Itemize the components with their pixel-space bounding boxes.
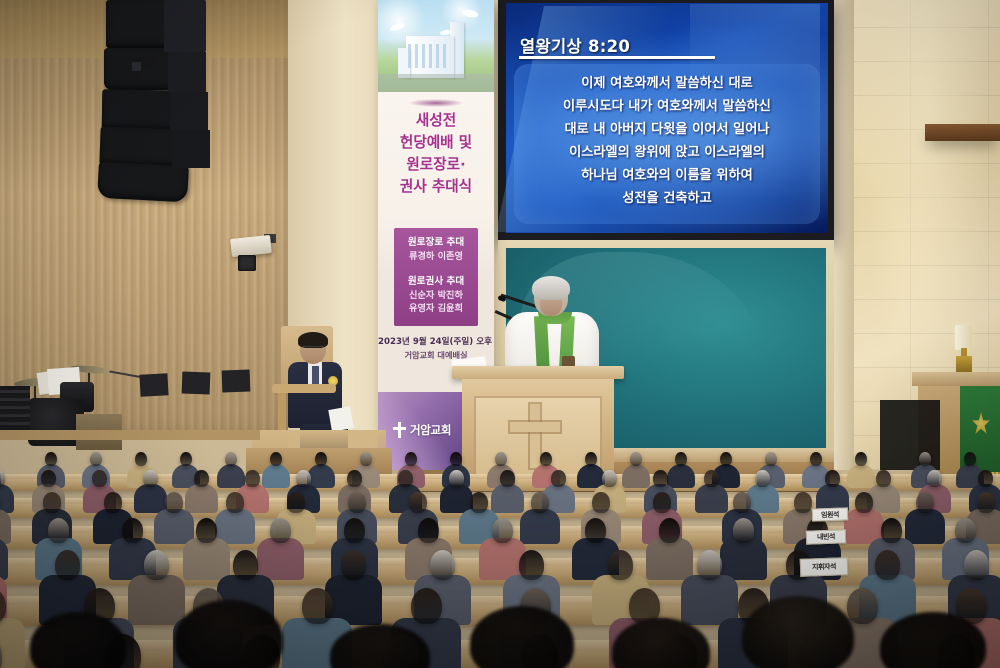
- congregant-body: [0, 509, 11, 544]
- congregant-head: [653, 470, 668, 487]
- congregant-body: [646, 538, 694, 580]
- congregant-head: [450, 452, 462, 466]
- congregant-head: [964, 550, 989, 580]
- congregant-body: [622, 464, 650, 488]
- congregant-head: [602, 470, 617, 487]
- congregant-head: [733, 492, 751, 513]
- congregant-head: [495, 452, 507, 466]
- congregant-head: [315, 452, 327, 466]
- congregant-head: [720, 452, 732, 466]
- seat-sign-label: 내빈석: [817, 532, 835, 543]
- congregant-head: [977, 492, 995, 513]
- congregant-head: [675, 452, 687, 466]
- congregant-body: [847, 464, 875, 488]
- congregant-head: [165, 492, 183, 513]
- congregant-head: [302, 588, 333, 624]
- congregant-head: [233, 550, 258, 580]
- congregant-head: [659, 518, 680, 543]
- congregant-head: [194, 470, 209, 487]
- congregant-head: [405, 452, 417, 466]
- congregant-head: [592, 492, 610, 513]
- congregant-head: [855, 452, 867, 466]
- congregant-head: [540, 452, 552, 466]
- congregant-head: [585, 518, 606, 543]
- congregant-body: [520, 509, 560, 544]
- congregant-head: [348, 492, 366, 513]
- congregant-head: [270, 518, 291, 543]
- congregant-head: [287, 492, 305, 513]
- congregant-head: [45, 452, 57, 466]
- congregant-head: [978, 470, 993, 487]
- congregant-head: [630, 452, 642, 466]
- congregant-head: [55, 550, 80, 580]
- congregant-head: [876, 470, 891, 487]
- congregant-head: [245, 470, 260, 487]
- congregant-head: [810, 452, 822, 466]
- congregant-head: [409, 492, 427, 513]
- congregant-body: [134, 484, 167, 513]
- congregant-head: [492, 518, 513, 543]
- congregant-head: [855, 492, 873, 513]
- congregant-head: [794, 492, 812, 513]
- congregant-head: [916, 492, 934, 513]
- seat-sign: 지휘자석: [800, 557, 849, 577]
- congregant-body: [0, 538, 8, 580]
- congregant-head: [919, 452, 931, 466]
- seat-sign: 내빈석: [806, 529, 846, 544]
- congregant-head: [551, 470, 566, 487]
- congregant-body: [695, 484, 728, 513]
- congregant-head: [765, 452, 777, 466]
- congregant-head: [144, 550, 169, 580]
- congregant-body: [720, 538, 768, 580]
- congregant-head: [296, 470, 311, 487]
- congregant-body: [0, 484, 14, 513]
- congregant-body: [0, 618, 25, 668]
- congregant-head: [955, 518, 976, 543]
- congregant-head: [430, 550, 455, 580]
- congregant-body: [491, 484, 524, 513]
- congregant-head: [90, 452, 102, 466]
- foreground-congregant-head: [742, 596, 854, 668]
- congregant-body: [185, 484, 218, 513]
- congregant-head: [519, 550, 544, 580]
- congregant-body: [183, 538, 231, 580]
- congregant-head: [41, 470, 56, 487]
- sanctuary-photo: 열왕기상 8:20 이제 여호와께서 말씀하신 대로 이루시도다 내가 여호와께…: [0, 0, 1000, 668]
- congregant-body: [262, 464, 290, 488]
- foreground-congregant-head: [175, 600, 283, 668]
- congregant-head: [226, 492, 244, 513]
- congregant-head: [733, 518, 754, 543]
- congregant-head: [847, 588, 878, 624]
- congregant-head: [180, 452, 192, 466]
- congregant-head: [225, 452, 237, 466]
- congregant-head: [196, 518, 217, 543]
- congregant-head: [608, 550, 633, 580]
- congregant-head: [875, 550, 900, 580]
- congregant-head: [411, 588, 442, 624]
- congregant-head: [398, 470, 413, 487]
- seat-sign-label: 지휘자석: [812, 562, 836, 573]
- congregant-body: [905, 509, 945, 544]
- congregant-head: [825, 470, 840, 487]
- congregant-head: [964, 452, 976, 466]
- congregant-body: [154, 509, 194, 544]
- congregant-head: [470, 492, 488, 513]
- congregant-head: [48, 518, 69, 543]
- congregant-body: [128, 575, 186, 626]
- congregant-head: [755, 470, 770, 487]
- congregant-head: [418, 518, 439, 543]
- seat-sign: 임원석: [812, 507, 848, 521]
- congregant-body: [257, 538, 305, 580]
- congregant-head: [653, 492, 671, 513]
- congregant-head: [360, 452, 372, 466]
- congregant-head: [585, 452, 597, 466]
- congregant-body: [217, 464, 245, 488]
- congregant-head: [143, 470, 158, 487]
- seat-sign-label: 임원석: [821, 509, 839, 520]
- congregation: [0, 0, 1000, 668]
- congregant-head: [104, 492, 122, 513]
- congregant-head: [347, 470, 362, 487]
- congregant-head: [449, 470, 464, 487]
- congregant-head: [43, 492, 61, 513]
- congregant-head: [122, 518, 143, 543]
- congregant-head: [341, 550, 366, 580]
- congregant-head: [697, 550, 722, 580]
- congregant-head: [500, 470, 515, 487]
- congregant-body: [667, 464, 695, 488]
- congregant-head: [531, 492, 549, 513]
- congregant-head: [881, 518, 902, 543]
- congregant-head: [270, 452, 282, 466]
- congregant-head: [135, 452, 147, 466]
- congregant-head: [927, 470, 942, 487]
- congregant-head: [344, 518, 365, 543]
- congregant-head: [704, 470, 719, 487]
- congregant-head: [92, 470, 107, 487]
